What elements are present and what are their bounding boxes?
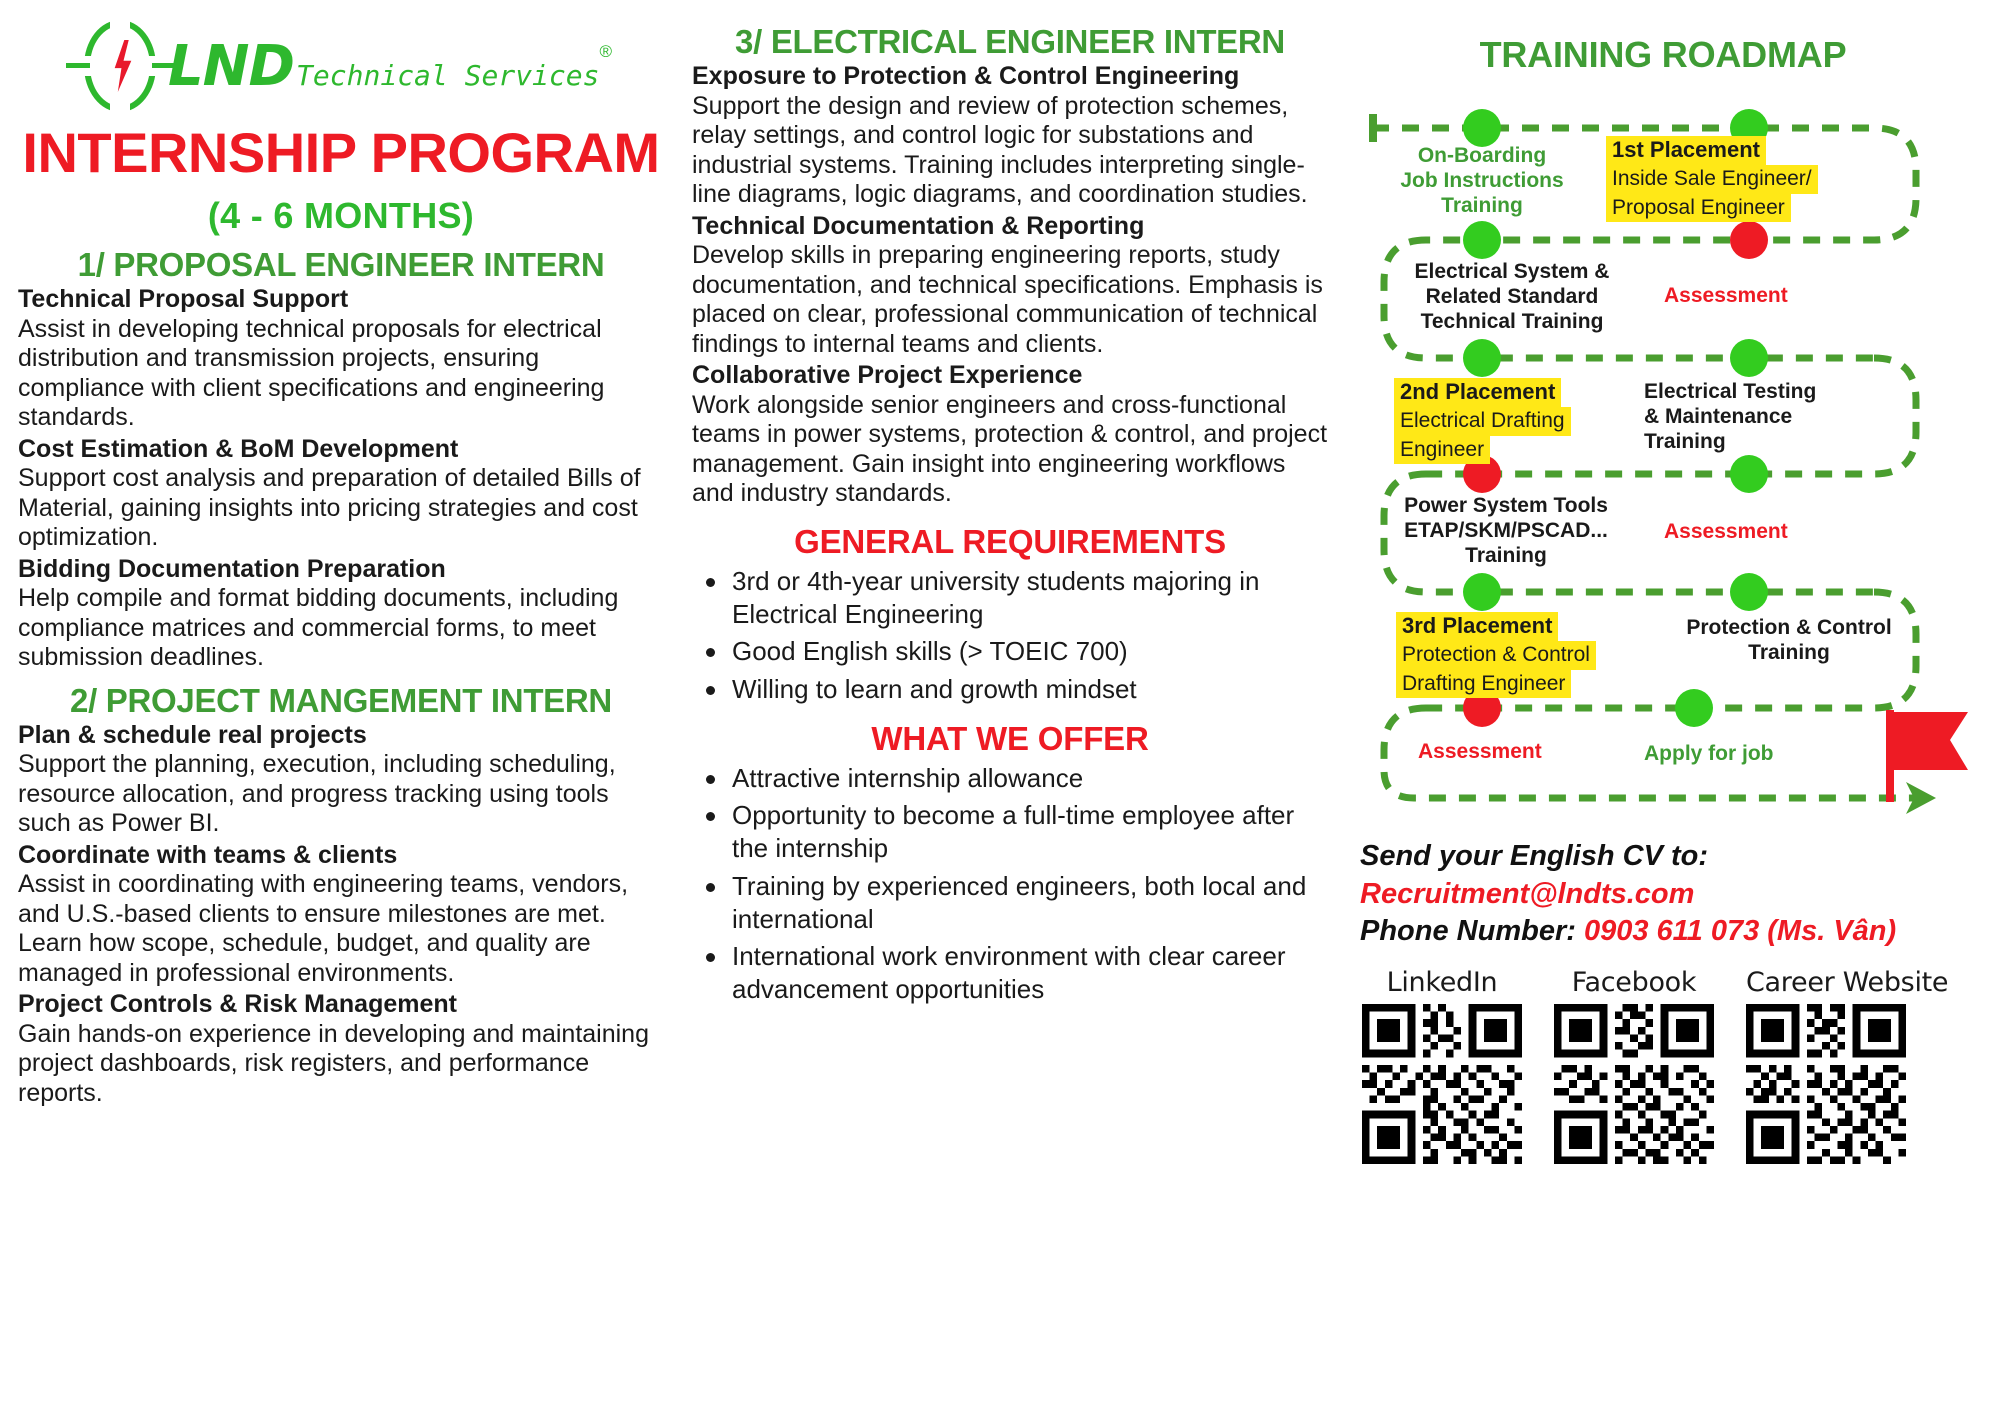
roadmap-node-red: [1730, 221, 1768, 259]
block-subtitle: Coordinate with teams & clients: [18, 841, 664, 871]
brand-tagline: Technical Services: [296, 59, 599, 92]
block-subtitle: Bidding Documentation Preparation: [18, 555, 664, 585]
block-text: Assist in coordinating with engineering …: [18, 870, 664, 988]
roadmap-step-label-3: Electrical Testing & Maintenance Trainin…: [1644, 380, 1924, 454]
roadmap-title: TRAINING ROADMAP: [1348, 34, 1978, 76]
list-item: Willing to learn and growth mindset: [692, 673, 1328, 706]
placement-line: Drafting Engineer: [1396, 670, 1571, 698]
roadmap-step-label-2: Electrical System & Related Standard Tec…: [1392, 260, 1632, 334]
roadmap-node-green: [1730, 455, 1768, 493]
placement-box-1: 1st Placement Inside Sale Engineer/ Prop…: [1606, 136, 1836, 222]
cv-instruction: Send your English CV to:: [1360, 838, 1978, 876]
assessment-label-3: Assessment: [1418, 740, 1542, 765]
placement-title: 2nd Placement: [1394, 378, 1561, 407]
section-heading-1: 1/ PROPOSAL ENGINEER INTERN: [18, 247, 664, 283]
left-column: LND Technical Services ® INTERNSHIP PROG…: [18, 14, 678, 1404]
assessment-label-2: Assessment: [1664, 520, 1788, 545]
middle-column: 3/ ELECTRICAL ENGINEER INTERN Exposure t…: [678, 14, 1338, 1404]
roadmap-node-green: [1675, 689, 1713, 727]
roadmap-node-green: [1463, 339, 1501, 377]
placement-line: Electrical Drafting: [1394, 407, 1571, 435]
offer-list: Attractive internship allowance Opportun…: [692, 762, 1328, 1007]
block-text: Assist in developing technical proposals…: [18, 315, 664, 433]
placement-box-3: 3rd Placement Protection & Control Draft…: [1396, 612, 1641, 698]
block-text: Develop skills in preparing engineering …: [692, 241, 1328, 359]
right-column: TRAINING ROADMAP: [1338, 14, 1978, 1404]
section-heading-2: 2/ PROJECT MANGEMENT INTERN: [18, 683, 664, 719]
qr-code-icon: [1362, 1004, 1522, 1164]
lightning-bolt-logo-icon: [66, 18, 174, 114]
block-text: Support cost analysis and preparation of…: [18, 464, 664, 553]
phone-row: Phone Number: 0903 611 073 (Ms. Vân): [1360, 913, 1978, 951]
roadmap-node-green: [1730, 339, 1768, 377]
requirements-list: 3rd or 4th-year university students majo…: [692, 565, 1328, 706]
qr-code-row: LinkedIn: [1348, 967, 1978, 1164]
block-subtitle: Project Controls & Risk Management: [18, 990, 664, 1020]
block-subtitle: Technical Documentation & Reporting: [692, 212, 1328, 242]
qr-caption: Facebook: [1554, 967, 1714, 998]
placement-title: 1st Placement: [1606, 136, 1766, 165]
assessment-label-1: Assessment: [1664, 284, 1788, 309]
phone-value: 0903 611 073 (Ms. Vân): [1584, 915, 1896, 947]
block-subtitle: Exposure to Protection & Control Enginee…: [692, 62, 1328, 92]
requirements-heading: GENERAL REQUIREMENTS: [692, 523, 1328, 561]
qr-code-icon: [1746, 1004, 1906, 1164]
list-item: Good English skills (> TOEIC 700): [692, 635, 1328, 668]
page-title: INTERNSHIP PROGRAM: [18, 124, 664, 183]
roadmap-node-green: [1463, 573, 1501, 611]
block-subtitle: Technical Proposal Support: [18, 285, 664, 315]
qr-career-website[interactable]: Career Website: [1746, 967, 1948, 1164]
list-item: Opportunity to become a full-time employ…: [692, 799, 1328, 866]
placement-line: Protection & Control: [1396, 641, 1596, 669]
placement-line: Proposal Engineer: [1606, 194, 1791, 222]
offer-heading: WHAT WE OFFER: [692, 720, 1328, 758]
list-item: International work environment with clea…: [692, 940, 1328, 1007]
qr-caption: LinkedIn: [1362, 967, 1522, 998]
block-text: Support the design and review of protect…: [692, 92, 1328, 210]
list-item: 3rd or 4th-year university students majo…: [692, 565, 1328, 632]
list-item: Attractive internship allowance: [692, 762, 1328, 795]
roadmap-step-label-5: Protection & Control Training: [1654, 616, 1924, 666]
placement-line: Engineer: [1394, 436, 1490, 464]
finish-flag-icon: [1886, 710, 1968, 802]
roadmap-step-label-4: Power System Tools ETAP/SKM/PSCAD... Tra…: [1376, 494, 1636, 568]
block-text: Support the planning, execution, includi…: [18, 750, 664, 839]
training-roadmap-diagram: On-Boarding Job Instructions Training 1s…: [1354, 80, 1974, 820]
qr-caption: Career Website: [1746, 967, 1948, 998]
list-item: Training by experienced engineers, both …: [692, 870, 1328, 937]
apply-for-job-label: Apply for job: [1644, 742, 1774, 767]
block-text: Work alongside senior engineers and cros…: [692, 391, 1328, 509]
placement-line: Inside Sale Engineer/: [1606, 165, 1818, 193]
placement-box-2: 2nd Placement Electrical Drafting Engine…: [1394, 378, 1629, 464]
flyer-page: LND Technical Services ® INTERNSHIP PROG…: [0, 0, 2000, 1414]
program-duration: (4 - 6 MONTHS): [18, 195, 664, 237]
brand-name: LND: [168, 34, 294, 99]
block-subtitle: Plan & schedule real projects: [18, 721, 664, 751]
recruitment-email[interactable]: Recruitment@lndts.com: [1360, 876, 1978, 914]
section-heading-3: 3/ ELECTRICAL ENGINEER INTERN: [692, 24, 1328, 60]
qr-code-icon: [1554, 1004, 1714, 1164]
block-text: Gain hands-on experience in developing a…: [18, 1020, 664, 1109]
roadmap-start-cap: [1369, 114, 1377, 142]
block-text: Help compile and format bidding document…: [18, 584, 664, 673]
contact-block: Send your English CV to: Recruitment@lnd…: [1348, 838, 1978, 951]
roadmap-node-green: [1730, 573, 1768, 611]
phone-label: Phone Number:: [1360, 915, 1576, 947]
qr-facebook[interactable]: Facebook: [1554, 967, 1714, 1164]
roadmap-node-green: [1463, 109, 1501, 147]
registered-mark-icon: ®: [599, 42, 612, 62]
qr-linkedin[interactable]: LinkedIn: [1362, 967, 1522, 1164]
block-subtitle: Collaborative Project Experience: [692, 361, 1328, 391]
company-logo: LND Technical Services ®: [18, 14, 664, 118]
placement-title: 3rd Placement: [1396, 612, 1558, 641]
roadmap-step-label-1: On-Boarding Job Instructions Training: [1372, 144, 1592, 218]
block-subtitle: Cost Estimation & BoM Development: [18, 435, 664, 465]
roadmap-node-green: [1463, 221, 1501, 259]
